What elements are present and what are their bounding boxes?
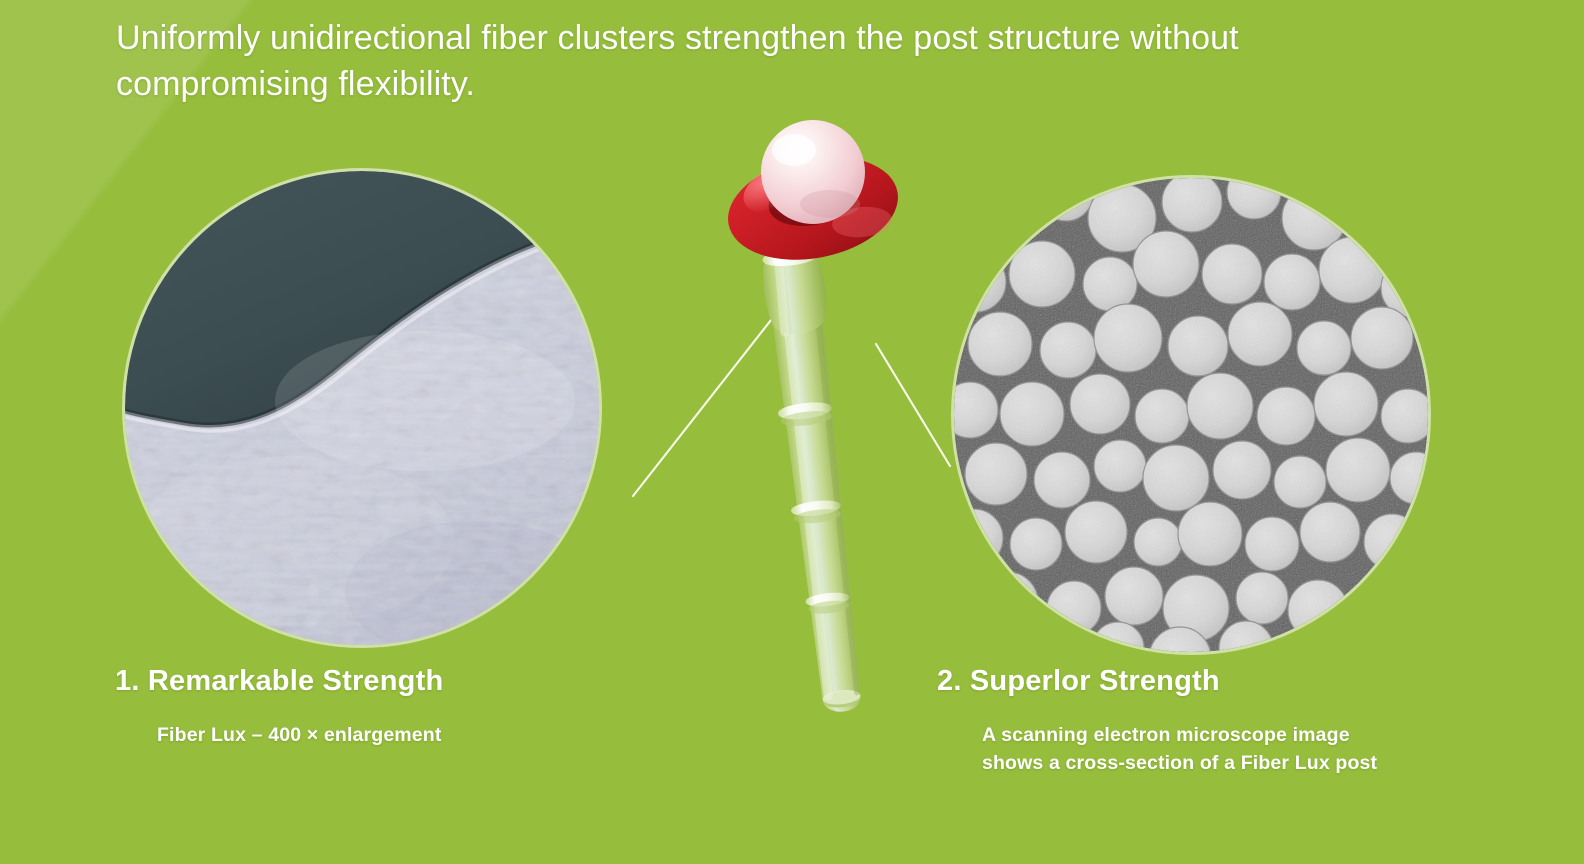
leader-line-left (633, 306, 782, 496)
tapered-post-body (760, 245, 874, 715)
sem-cross-section-photo (954, 178, 1428, 652)
page-title: Uniformly unidirectional fiber clusters … (116, 16, 1406, 108)
caption-remarkable-strength: 1. Remarkable Strength Fiber Lux – 400 ×… (115, 665, 443, 749)
leader-line-right (876, 344, 950, 466)
caption-left-subtitle: Fiber Lux – 400 × enlargement (157, 721, 443, 749)
photo-circle-remarkable-strength (125, 171, 599, 645)
caption-superior-strength: 2. Superlor Strength A scanning electron… (937, 665, 1377, 778)
infographic-canvas: Uniformly unidirectional fiber clusters … (0, 0, 1584, 864)
caption-left-title: 1. Remarkable Strength (115, 665, 443, 698)
ball-head (761, 120, 865, 224)
photo-circle-superior-strength (954, 178, 1428, 652)
caption-right-title: 2. Superlor Strength (937, 665, 1377, 698)
caption-right-subtitle-line1: A scanning electron microscope image (982, 721, 1377, 749)
fiber-surface-magnification-photo (125, 171, 599, 645)
caption-left-heading: Remarkable Strength (148, 665, 444, 697)
caption-left-number: 1. (115, 665, 140, 697)
caption-right-subtitle-line2: shows a cross-section of a Fiber Lux pos… (982, 749, 1377, 777)
caption-right-heading: Superlor Strength (970, 665, 1220, 697)
caption-right-number: 2. (937, 665, 962, 697)
caption-right-subtitle: A scanning electron microscope image sho… (982, 721, 1377, 778)
